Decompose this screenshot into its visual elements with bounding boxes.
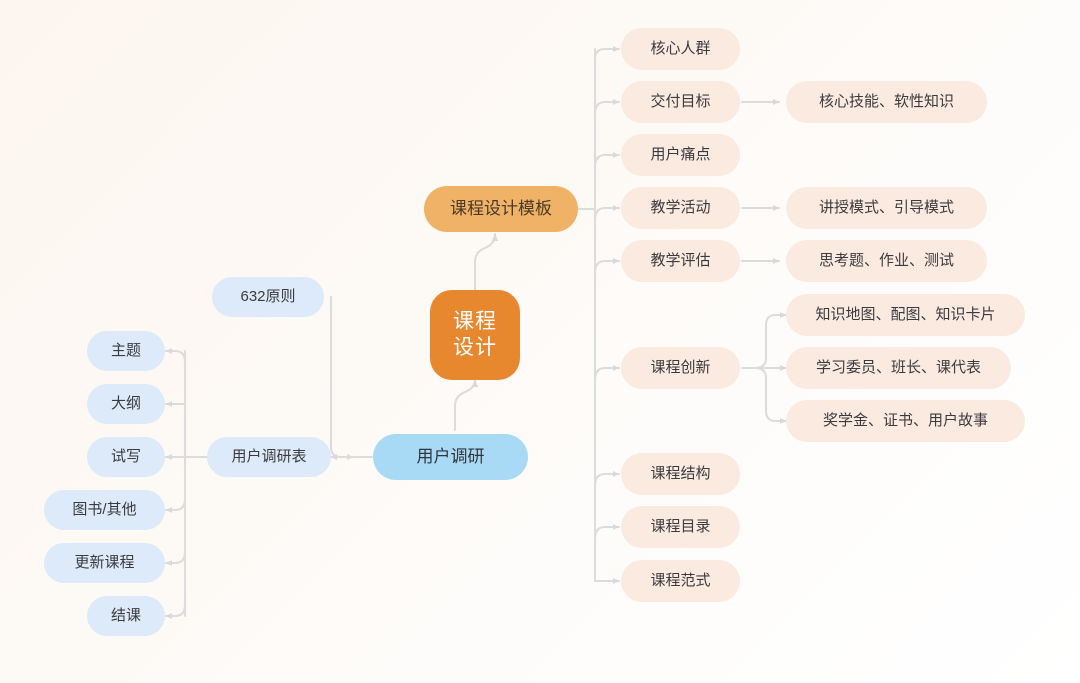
node-lecture-guide-mode[interactable]: 讲授模式、引导模式 — [786, 187, 987, 229]
node-outline[interactable]: 大纲 — [87, 384, 165, 424]
node-teaching-assessment[interactable]: 教学评估 — [621, 240, 740, 282]
node-update-course[interactable]: 更新课程 — [44, 543, 165, 583]
node-course-structure[interactable]: 课程结构 — [621, 453, 740, 495]
root-label-line2: 设计 — [453, 335, 497, 361]
node-course-completion[interactable]: 结课 — [87, 596, 165, 636]
node-course-catalog[interactable]: 课程目录 — [621, 506, 740, 548]
root-label-line1: 课程 — [453, 309, 497, 335]
node-course-innovation[interactable]: 课程创新 — [621, 347, 740, 389]
node-delivery-goal[interactable]: 交付目标 — [621, 81, 740, 123]
node-632-principle[interactable]: 632原则 — [212, 277, 324, 317]
mindmap-canvas: 课程 设计 课程设计模板 用户调研 核心人群 交付目标 用户痛点 教学活动 教学… — [0, 0, 1080, 683]
node-questions-homework-test[interactable]: 思考题、作业、测试 — [786, 240, 987, 282]
root-node-course-design[interactable]: 课程 设计 — [430, 290, 520, 380]
branch-node-course-design-template[interactable]: 课程设计模板 — [424, 186, 578, 232]
node-core-skills-soft-knowledge[interactable]: 核心技能、软性知识 — [786, 81, 987, 123]
node-core-audience[interactable]: 核心人群 — [621, 28, 740, 70]
node-topic[interactable]: 主题 — [87, 331, 165, 371]
node-course-paradigm[interactable]: 课程范式 — [621, 560, 740, 602]
node-books-others[interactable]: 图书/其他 — [44, 490, 165, 530]
node-knowledge-map-cards[interactable]: 知识地图、配图、知识卡片 — [786, 294, 1025, 336]
node-trial-writing[interactable]: 试写 — [87, 437, 165, 477]
node-teaching-activity[interactable]: 教学活动 — [621, 187, 740, 229]
node-study-committee-roles[interactable]: 学习委员、班长、课代表 — [786, 347, 1011, 389]
node-user-pain-points[interactable]: 用户痛点 — [621, 134, 740, 176]
node-scholarship-cert-stories[interactable]: 奖学金、证书、用户故事 — [786, 400, 1025, 442]
branch-node-user-research[interactable]: 用户调研 — [373, 434, 528, 480]
node-user-survey-form[interactable]: 用户调研表 — [207, 437, 331, 477]
